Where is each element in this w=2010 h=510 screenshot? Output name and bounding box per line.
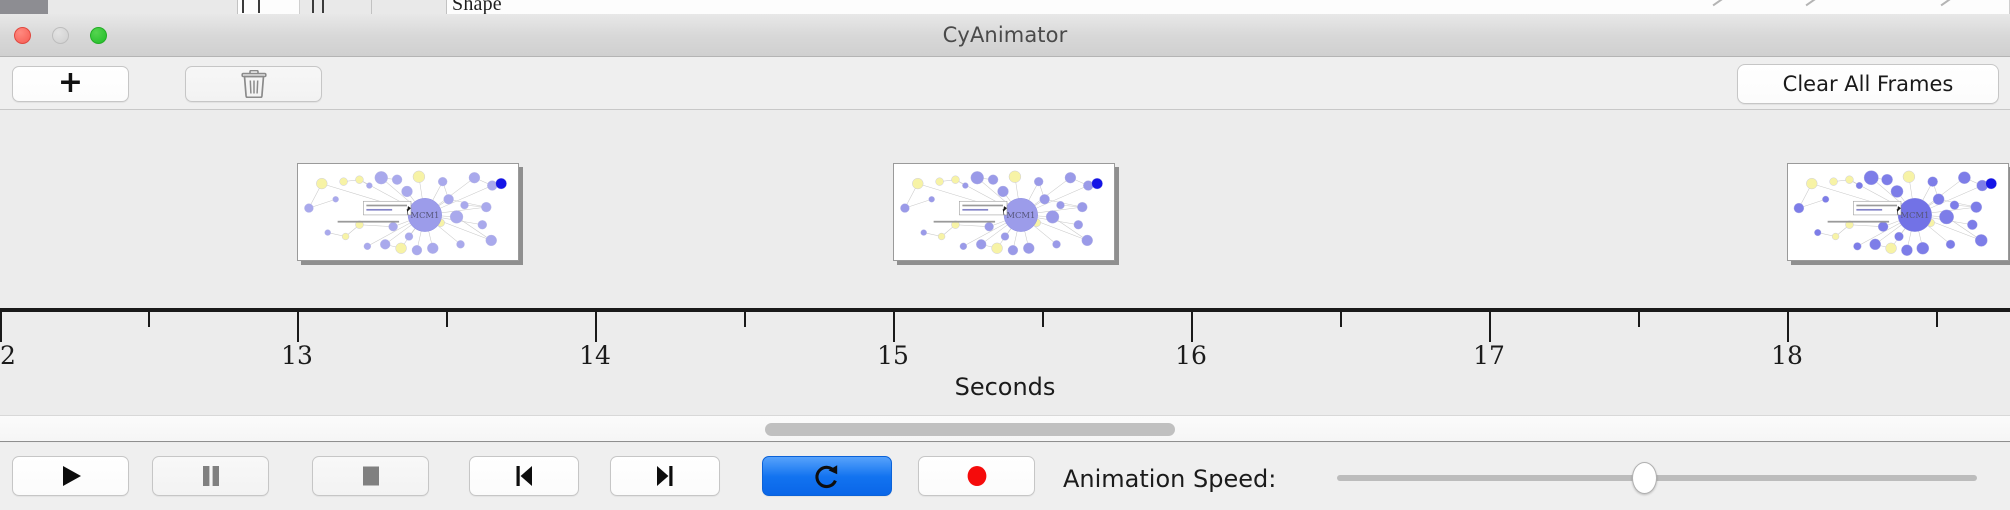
- bg-window-chunk: [238, 0, 300, 14]
- skip-to-last-frame-button[interactable]: [610, 456, 720, 496]
- loop-icon: [813, 462, 841, 490]
- pause-icon: [199, 463, 223, 489]
- bg-window-chunk: [447, 0, 2010, 14]
- axis-tick-major: [1191, 312, 1193, 342]
- bg-window-chunk: [372, 0, 447, 14]
- axis-line: [0, 308, 2010, 312]
- bg-window-chunk: [48, 0, 238, 14]
- axis-tick-minor: [1638, 312, 1640, 327]
- bg-tick: [258, 0, 260, 13]
- delete-frame-button[interactable]: [185, 66, 322, 102]
- record-icon: [964, 463, 990, 489]
- skip-forward-icon: [653, 463, 677, 489]
- pause-button[interactable]: [152, 456, 269, 496]
- bg-window-chunk: [300, 0, 372, 14]
- title-bar[interactable]: CyAnimator: [0, 14, 2010, 57]
- animation-speed-slider[interactable]: [1337, 475, 1977, 481]
- skip-back-icon: [512, 463, 536, 489]
- axis-tick-major: [0, 312, 2, 342]
- axis-tick-label: 14: [579, 341, 611, 370]
- timeline-frame-thumbnail[interactable]: MCM1: [1787, 163, 2009, 261]
- axis-tick-minor: [1936, 312, 1938, 327]
- axis-tick-major: [1489, 312, 1491, 342]
- axis-tick-major: [297, 312, 299, 342]
- svg-text:MCM1: MCM1: [1006, 210, 1035, 220]
- play-icon: [58, 463, 84, 489]
- plus-icon: +: [58, 68, 83, 98]
- axis-tick-label: 17: [1473, 341, 1505, 370]
- axis-tick-minor: [1042, 312, 1044, 327]
- bg-window-chunk: [0, 0, 48, 14]
- trash-icon: [241, 70, 267, 98]
- timeline-scrollbar[interactable]: [0, 415, 2010, 442]
- bg-tick: [312, 0, 314, 13]
- stop-button[interactable]: [312, 456, 429, 496]
- svg-text:MCM1: MCM1: [1900, 210, 1929, 220]
- axis-tick-minor: [1340, 312, 1342, 327]
- scrollbar-thumb[interactable]: [765, 423, 1175, 436]
- axis-tick-major: [595, 312, 597, 342]
- background-windows-strip: Shape: [0, 0, 2010, 14]
- stop-icon: [359, 463, 383, 489]
- skip-to-first-frame-button[interactable]: [469, 456, 579, 496]
- axis-tick-minor: [446, 312, 448, 327]
- axis-tick-label: 15: [877, 341, 909, 370]
- bg-window-label-shape: Shape: [452, 0, 502, 14]
- toolbar: + Clear All Frames: [0, 57, 2010, 110]
- window-title: CyAnimator: [0, 23, 2010, 47]
- timeline-frame-thumbnail[interactable]: MCM1: [297, 163, 519, 261]
- loop-button[interactable]: [762, 456, 892, 496]
- play-button[interactable]: [12, 456, 129, 496]
- axis-tick-label: 18: [1771, 341, 1803, 370]
- timeline-axis: 12131415161718 Seconds: [0, 293, 2010, 409]
- svg-text:MCM1: MCM1: [410, 210, 439, 220]
- add-frame-button[interactable]: +: [12, 66, 129, 102]
- axis-tick-label: 12: [0, 341, 16, 370]
- clear-all-frames-button[interactable]: Clear All Frames: [1737, 64, 1999, 104]
- axis-tick-major: [893, 312, 895, 342]
- timeline-frame-thumbnail[interactable]: MCM1: [893, 163, 1115, 261]
- axis-tick-minor: [744, 312, 746, 327]
- record-button[interactable]: [918, 456, 1035, 496]
- timeline-frames-area[interactable]: MCM1 MCM1 MCM1: [0, 110, 2010, 293]
- axis-tick-minor: [148, 312, 150, 327]
- playback-toolbar: Animation Speed:: [0, 443, 2010, 510]
- axis-tick-major: [1787, 312, 1789, 342]
- clear-all-frames-label: Clear All Frames: [1783, 72, 1954, 96]
- bg-tick: [322, 0, 324, 13]
- animation-speed-label: Animation Speed:: [1063, 465, 1276, 493]
- axis-tick-label: 16: [1175, 341, 1207, 370]
- cyanimator-window: Shape CyAnimator + Clear All Frames: [0, 0, 2010, 510]
- axis-tick-label: 13: [281, 341, 313, 370]
- slider-thumb[interactable]: [1632, 462, 1657, 494]
- axis-title: Seconds: [0, 373, 2010, 401]
- bg-tick: [242, 0, 244, 13]
